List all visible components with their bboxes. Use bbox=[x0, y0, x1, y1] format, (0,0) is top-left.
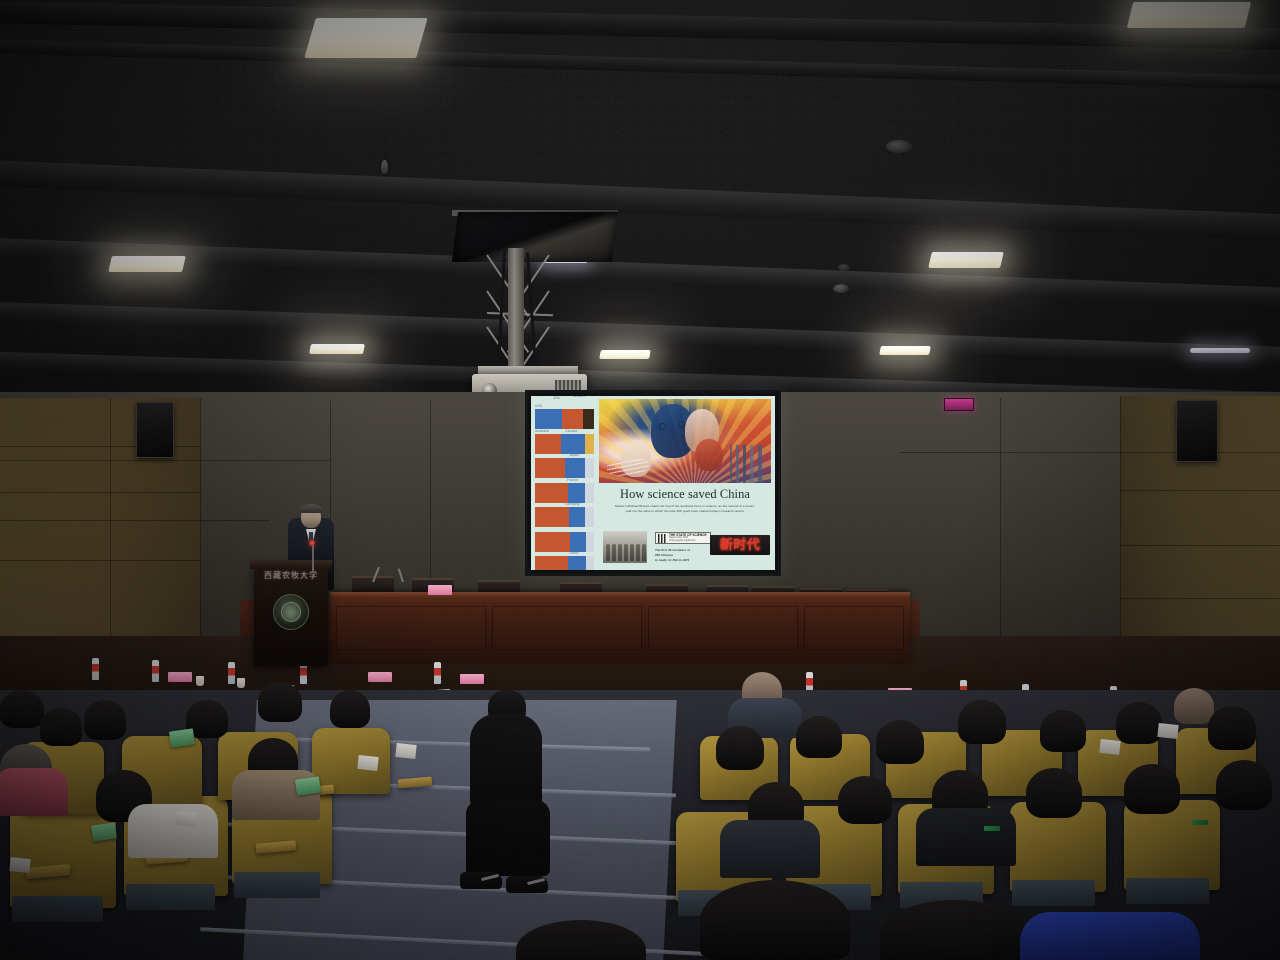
left-wall-speaker bbox=[136, 402, 174, 458]
audience-member bbox=[330, 690, 370, 728]
slide-bar-charts: USA All other USA Australia Canada Jap bbox=[531, 396, 597, 570]
poster-artwork bbox=[599, 399, 771, 483]
slide-body-text: Nature's Michael Brooks charts the rise … bbox=[606, 504, 764, 513]
chinese-stamp: 新时代 bbox=[710, 535, 770, 555]
logo-mark-icon bbox=[658, 534, 667, 543]
exit-sign bbox=[944, 398, 974, 411]
water-bottle bbox=[434, 662, 441, 684]
name-card bbox=[368, 672, 392, 682]
audience-member bbox=[958, 700, 1006, 744]
podium-mic-indicator bbox=[309, 540, 315, 546]
projection-screen: USA All other USA Australia Canada Jap bbox=[525, 390, 781, 576]
audience-member bbox=[258, 682, 302, 722]
green-booklet bbox=[295, 776, 321, 795]
audience-shoulders bbox=[128, 804, 218, 858]
chart-row bbox=[535, 532, 594, 552]
publication-logo: THE STATE OF SCIENCE Nature Index 2018 C… bbox=[655, 532, 711, 544]
university-emblem bbox=[273, 594, 309, 630]
ceiling-light bbox=[1190, 348, 1250, 353]
audience-member bbox=[1026, 768, 1082, 818]
audience-shoulders bbox=[720, 820, 820, 878]
chart-row-label: China bbox=[569, 552, 578, 555]
podium: 西藏农牧大学 bbox=[254, 566, 328, 666]
poster-cityscape bbox=[727, 445, 767, 483]
ceiling-light bbox=[1127, 2, 1251, 28]
audience-member bbox=[1116, 702, 1162, 744]
audience-member bbox=[40, 708, 82, 746]
crouching-photographer bbox=[462, 690, 558, 902]
chart-top-label-allother: All other bbox=[573, 396, 585, 398]
chart-row: China bbox=[535, 556, 594, 570]
ceiling-light bbox=[928, 252, 1004, 268]
handout-sheet bbox=[175, 811, 196, 827]
presentation-slide: USA All other USA Australia Canada Jap bbox=[531, 396, 775, 570]
chinese-stamp-text: 新时代 bbox=[720, 539, 760, 552]
chart-row-label: Japan bbox=[569, 454, 579, 457]
audience-member bbox=[716, 726, 764, 770]
right-wall-speaker bbox=[1176, 400, 1218, 462]
logo-sub-2: China special supplement bbox=[669, 540, 708, 543]
sprinkler-head bbox=[381, 160, 388, 174]
audience-member bbox=[1040, 710, 1086, 752]
podium-institution-text: 西藏农牧大学 bbox=[258, 572, 324, 580]
presenter-hair bbox=[300, 504, 322, 513]
slide-body-line-2: year run the ways in which the past 100 … bbox=[606, 509, 764, 514]
water-bottle bbox=[228, 662, 235, 684]
ceiling-light bbox=[108, 256, 186, 272]
paper-cup bbox=[237, 678, 245, 688]
chart-row-label: USA bbox=[535, 405, 542, 408]
ceiling-speaker bbox=[833, 284, 849, 293]
audience-member bbox=[84, 700, 126, 740]
chart-top-label-usa: USA bbox=[553, 396, 560, 400]
lanyard-badge bbox=[1192, 820, 1208, 825]
audience-member bbox=[1124, 764, 1180, 814]
slide-headline: How science saved China bbox=[599, 488, 771, 500]
water-bottle bbox=[92, 658, 99, 680]
chart-row: France bbox=[535, 483, 594, 503]
ceiling-light bbox=[304, 18, 427, 58]
ceiling-light bbox=[879, 346, 931, 355]
podium-microphone bbox=[312, 545, 314, 573]
chart-row: Germany bbox=[535, 507, 594, 527]
audience-member bbox=[1216, 760, 1272, 810]
chart-row: Australia Canada bbox=[535, 434, 594, 454]
ceiling-light bbox=[309, 344, 365, 354]
auditorium-photo: USA All other USA Australia Canada Jap bbox=[0, 0, 1280, 960]
audience-member bbox=[0, 690, 44, 728]
name-card bbox=[460, 674, 484, 684]
auditorium-seat bbox=[312, 728, 390, 794]
green-booklet bbox=[91, 822, 117, 841]
name-card bbox=[428, 585, 452, 595]
lanyard-badge bbox=[984, 826, 1000, 831]
auditorium-seat bbox=[10, 804, 116, 908]
head-table bbox=[330, 592, 910, 664]
handout-sheet bbox=[395, 743, 416, 759]
paper-cup bbox=[196, 676, 204, 686]
handout-sheet bbox=[357, 755, 378, 771]
slide-main-content: How science saved China Nature's Michael… bbox=[597, 396, 775, 570]
chart-row-label-canada: Canada bbox=[565, 430, 577, 433]
audience-member bbox=[796, 716, 842, 758]
slide-body-line-1: Nature's Michael Brooks charts the rise … bbox=[606, 504, 764, 509]
chart-row: Japan bbox=[535, 458, 594, 478]
audience-member bbox=[1174, 688, 1214, 724]
name-card bbox=[168, 672, 192, 682]
audience-shoulders bbox=[916, 808, 1016, 866]
ceiling bbox=[0, 0, 1280, 400]
audience-member bbox=[700, 880, 850, 960]
ceiling-speaker bbox=[886, 140, 912, 153]
handout-sheet bbox=[1099, 739, 1120, 755]
ceiling-speaker bbox=[838, 264, 850, 271]
audience-shoulders bbox=[1020, 912, 1200, 960]
audience-member bbox=[1208, 706, 1256, 750]
slide-photo-terracotta bbox=[603, 531, 647, 563]
handout-sheet bbox=[1157, 723, 1178, 739]
chart-row-label: France bbox=[567, 479, 578, 482]
chart-row-label: Australia bbox=[535, 430, 549, 433]
audience-member bbox=[876, 720, 924, 764]
chart-row: USA bbox=[535, 409, 594, 429]
water-bottle bbox=[152, 660, 159, 682]
handout-sheet bbox=[9, 857, 30, 873]
green-booklet bbox=[169, 728, 195, 747]
caption-line-3: to study in USA in 1872 bbox=[655, 558, 719, 563]
audience-member bbox=[838, 776, 892, 824]
audience-shoulders bbox=[0, 768, 68, 816]
ceiling-light bbox=[599, 350, 651, 359]
chart-row-label: Germany bbox=[565, 503, 580, 506]
